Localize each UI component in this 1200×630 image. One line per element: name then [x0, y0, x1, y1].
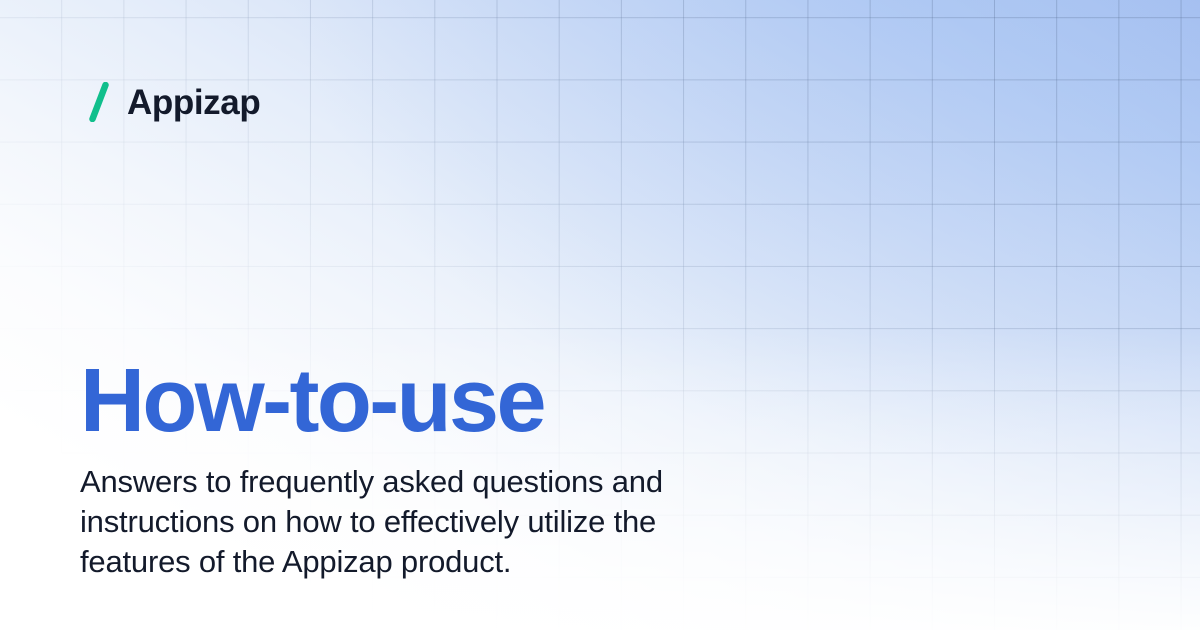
subtitle-line: features of the Appizap product. [80, 542, 850, 582]
brand-lockup[interactable]: Appizap [88, 82, 260, 122]
subtitle-line: Answers to frequently asked questions an… [80, 462, 850, 502]
slash-icon [88, 82, 110, 122]
subtitle-line: instructions on how to effectively utili… [80, 502, 850, 542]
page-subtitle: Answers to frequently asked questions an… [80, 462, 850, 582]
banner-content: Appizap How-to-use Answers to frequently… [0, 0, 1200, 630]
banner-card: Appizap How-to-use Answers to frequently… [0, 0, 1200, 630]
brand-name: Appizap [127, 85, 260, 120]
page-title: How-to-use [80, 356, 544, 446]
